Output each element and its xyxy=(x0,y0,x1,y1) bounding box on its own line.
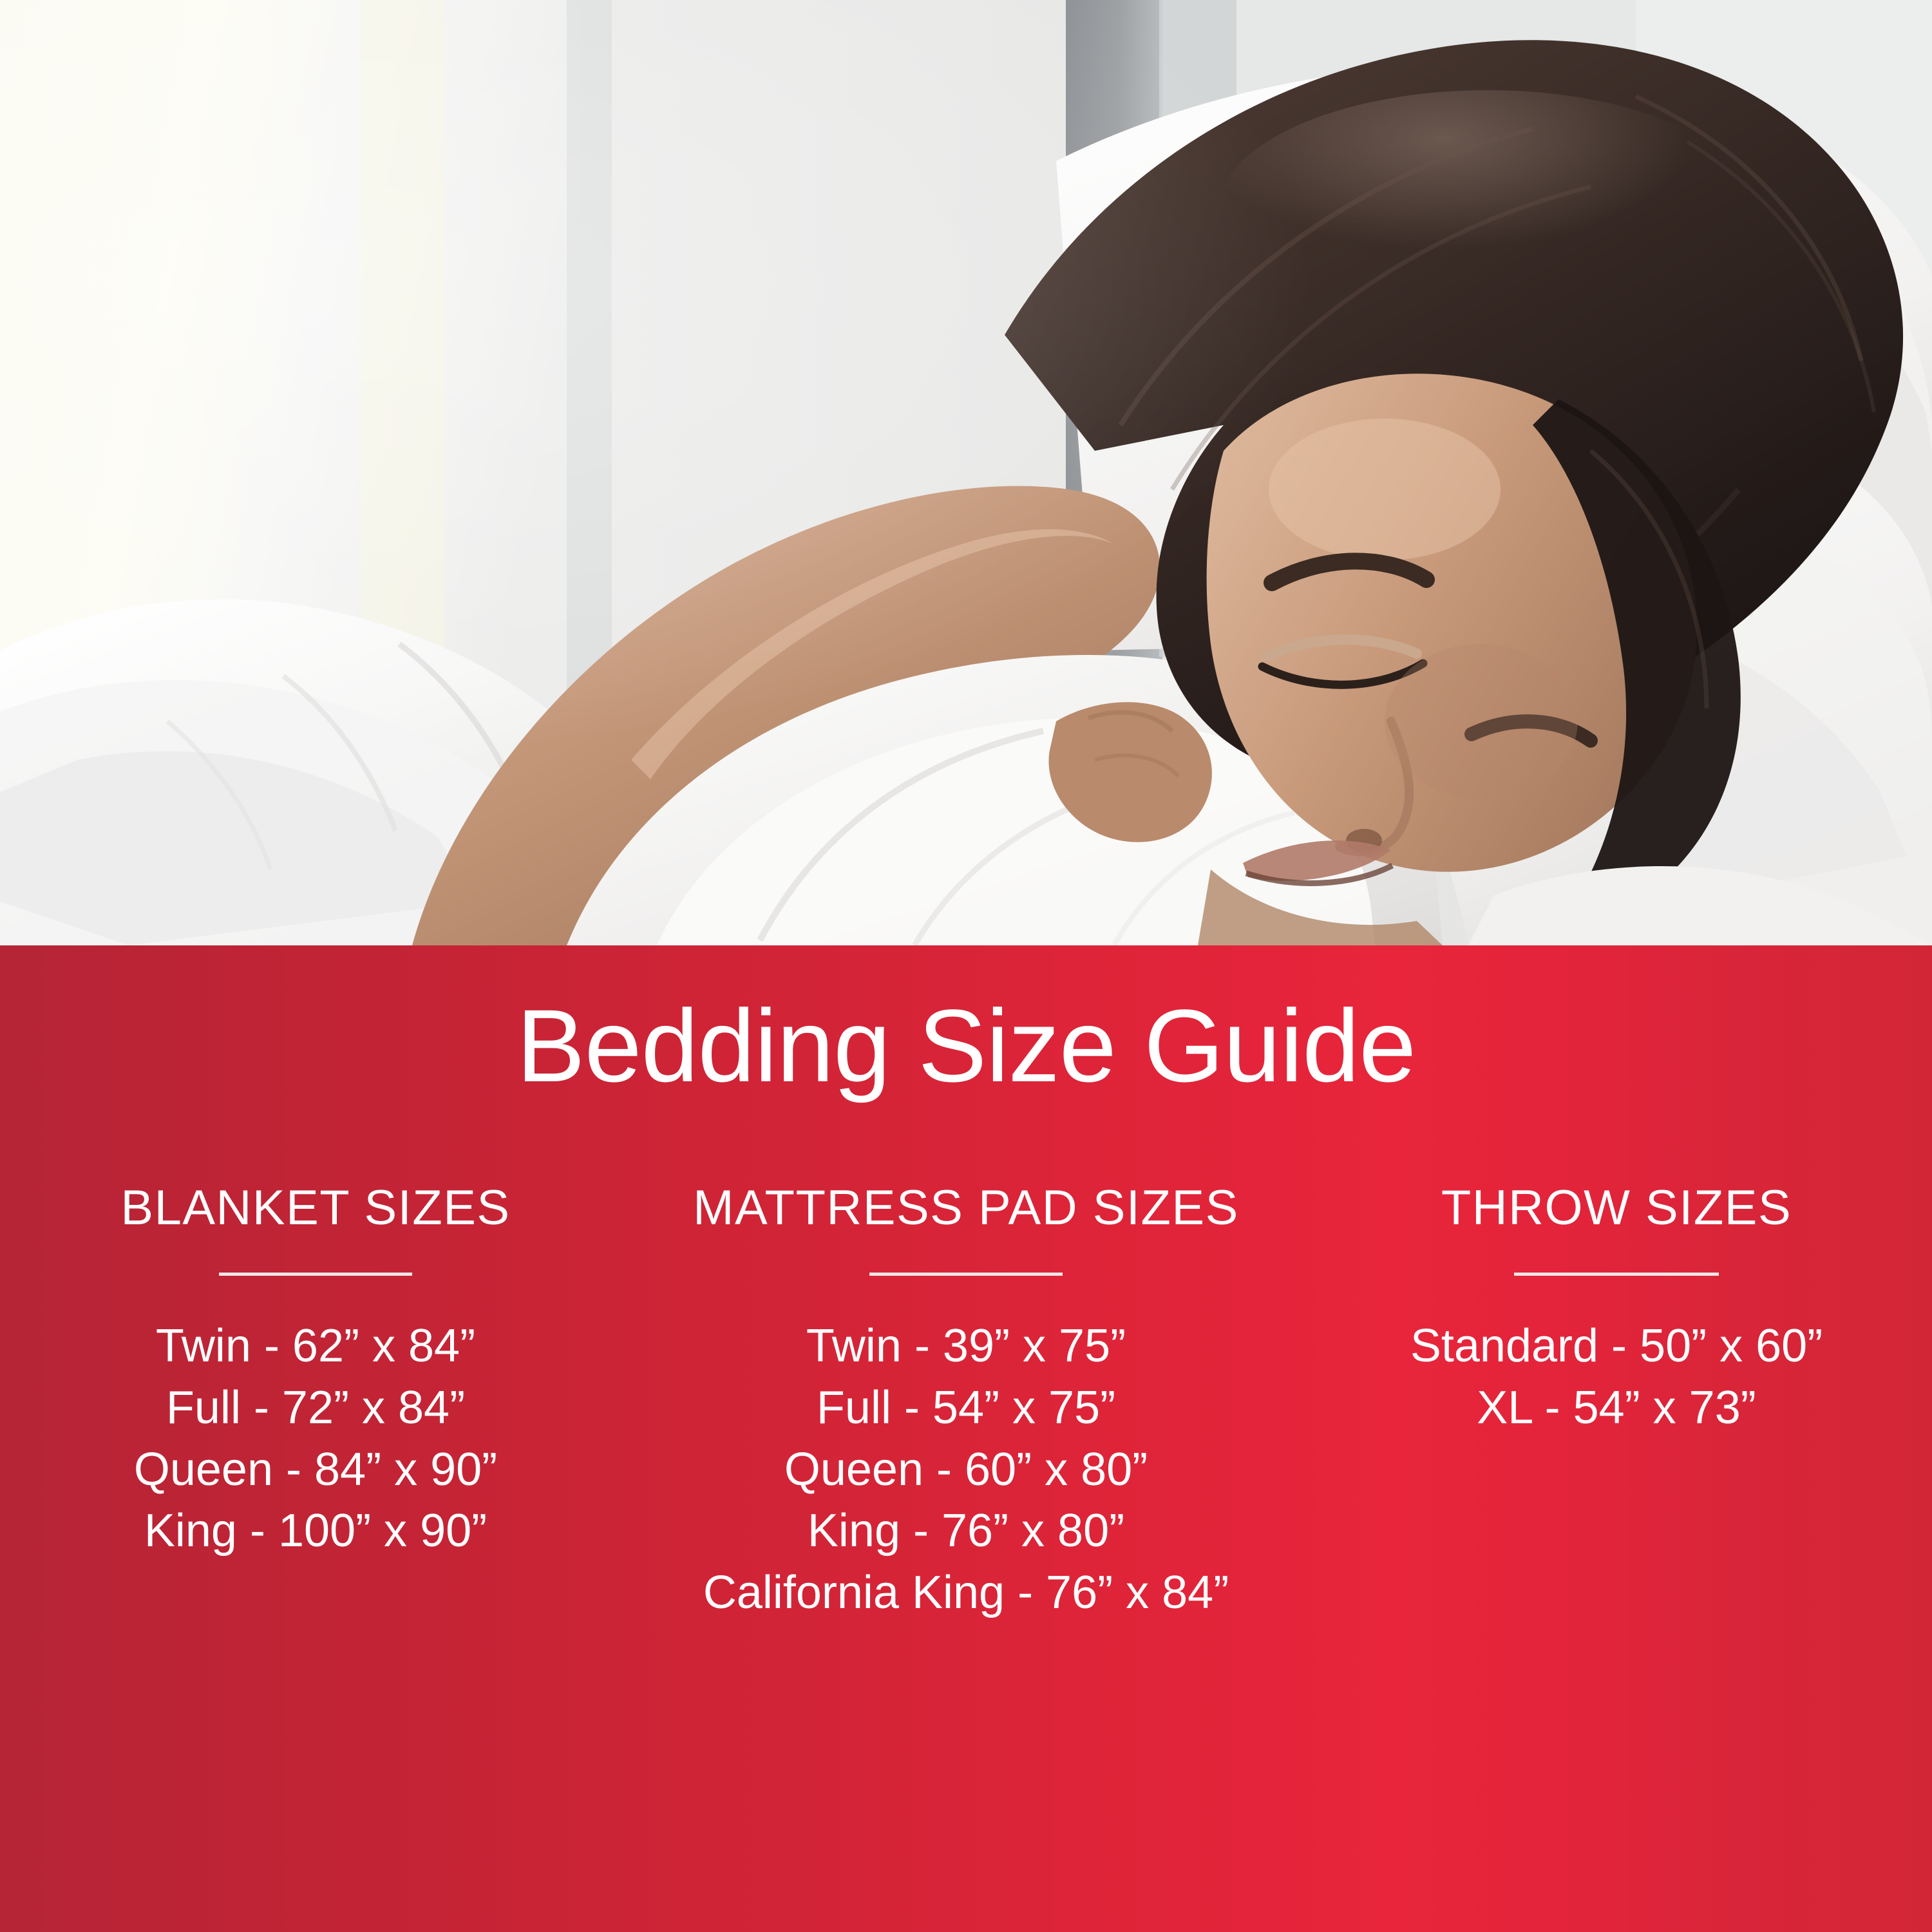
column-divider-blanket xyxy=(219,1273,412,1276)
column-mattress-pad-sizes: MATTRESS PAD SIZES Twin - 39” x 75” Full… xyxy=(592,1184,1340,1624)
column-header-throw-sizes: THROW SIZES xyxy=(1441,1184,1792,1233)
list-item: Full - 72” x 84” xyxy=(166,1378,465,1439)
page-title: Bedding Size Guide xyxy=(0,992,1932,1100)
column-header-mattress-pad-sizes: MATTRESS PAD SIZES xyxy=(693,1184,1239,1233)
list-blanket-sizes: Twin - 62” x 84” Full - 72” x 84” Queen … xyxy=(39,1316,592,1562)
list-item: California King - 76” x 84” xyxy=(703,1562,1229,1624)
column-throw-sizes: THROW SIZES Standard - 50” x 60” XL - 54… xyxy=(1340,1184,1893,1439)
column-blanket-sizes: BLANKET SIZES Twin - 62” x 84” Full - 72… xyxy=(39,1184,592,1562)
size-guide-panel: Bedding Size Guide BLANKET SIZES Twin - … xyxy=(0,945,1932,1932)
hero-photo-illustration xyxy=(0,0,1932,945)
column-header-blanket-sizes: BLANKET SIZES xyxy=(120,1184,510,1233)
column-divider-mattress-pad xyxy=(869,1273,1063,1276)
list-item: Queen - 84” x 90” xyxy=(134,1439,497,1501)
list-item: Queen - 60” x 80” xyxy=(784,1439,1148,1501)
column-divider-throw xyxy=(1514,1273,1719,1276)
list-throw-sizes: Standard - 50” x 60” XL - 54” x 73” xyxy=(1340,1316,1893,1439)
list-mattress-pad-sizes: Twin - 39” x 75” Full - 54” x 75” Queen … xyxy=(592,1316,1340,1624)
list-item: XL - 54” x 73” xyxy=(1477,1378,1756,1439)
list-item: King - 76” x 80” xyxy=(808,1501,1124,1562)
list-item: Full - 54” x 75” xyxy=(817,1378,1115,1439)
list-item: Twin - 39” x 75” xyxy=(806,1316,1126,1378)
list-item: Twin - 62” x 84” xyxy=(156,1316,475,1378)
bedding-size-guide-infographic: Bedding Size Guide BLANKET SIZES Twin - … xyxy=(0,0,1932,1932)
list-item: Standard - 50” x 60” xyxy=(1410,1316,1823,1378)
hero-photo xyxy=(0,0,1932,945)
size-columns: BLANKET SIZES Twin - 62” x 84” Full - 72… xyxy=(0,1184,1932,1624)
list-item: King - 100” x 90” xyxy=(144,1501,487,1562)
